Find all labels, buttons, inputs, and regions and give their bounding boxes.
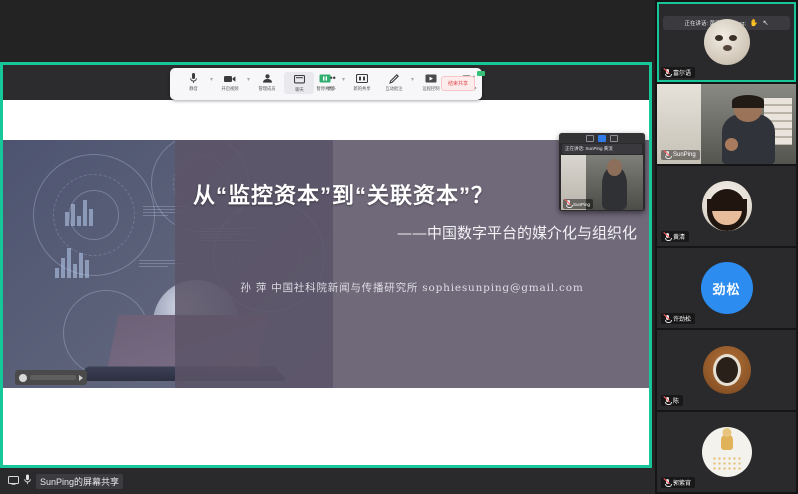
share-status-text: SunPing的屏幕共享 xyxy=(36,474,123,489)
video-button[interactable]: 开启视频 xyxy=(215,72,245,92)
toolbar-timer-group: 05:42 腾讯会议 xyxy=(288,65,408,67)
microphone-muted-icon xyxy=(566,200,571,208)
pause-share-button[interactable]: 暂停共享 xyxy=(310,72,340,92)
floating-camera-name: SunPing xyxy=(573,202,590,207)
chat-icon xyxy=(291,73,307,86)
floating-camera-window[interactable]: 正在讲话: SunPing 黄流 SunPing xyxy=(559,133,645,211)
participants-button[interactable]: 管理成员 xyxy=(252,72,282,92)
annotate-label: 互动批注 xyxy=(385,86,402,92)
active-layout-icon[interactable] xyxy=(598,135,606,142)
participant-name: 郭紫宵 xyxy=(673,478,691,487)
participant-name: SunPing xyxy=(673,152,696,158)
video-button-label: 开启视频 xyxy=(221,86,238,92)
microphone-muted-icon xyxy=(665,151,670,159)
recording-badge xyxy=(477,71,485,76)
participant-name: 黄清 xyxy=(673,232,685,241)
presentation-control-chip[interactable] xyxy=(15,370,87,385)
participants-button-label: 管理成员 xyxy=(258,86,275,92)
participant-tile[interactable]: 正在讲话: 黄流, SunPing; ✋ ↖ 富尔语 xyxy=(657,2,796,82)
new-share-label: 新的共享 xyxy=(353,86,370,92)
new-share-icon xyxy=(354,72,370,85)
shared-screen-region: 05:42 腾讯会议 静音 ▾ xyxy=(0,0,655,494)
layout-icon[interactable] xyxy=(586,135,594,142)
participants-rail: 正在讲话: 黄流, SunPing; ✋ ↖ 富尔语 xyxy=(655,0,798,494)
participant-tile[interactable]: 郭紫宵 xyxy=(657,412,796,492)
annotate-icon xyxy=(386,72,402,85)
floating-camera-name-badge: SunPing xyxy=(563,199,593,209)
participant-name-badge: 郭紫宵 xyxy=(661,477,695,488)
microphone-muted-icon xyxy=(665,397,670,405)
microphone-muted-icon xyxy=(665,69,670,77)
brown-photo-avatar xyxy=(703,346,751,394)
expand-icon[interactable] xyxy=(610,135,618,142)
end-share-button[interactable]: 结束共享 xyxy=(441,76,475,91)
raised-hand-icon: ✋ xyxy=(750,19,759,27)
slide-subtitle: ——中国数字平台的媒介化与组织化 xyxy=(397,222,637,243)
microphone-muted-icon xyxy=(665,315,670,323)
participant-name: 陈 xyxy=(673,396,679,405)
screen-share-icon xyxy=(8,472,19,490)
play-icon[interactable] xyxy=(79,375,83,381)
annotate-button[interactable]: 互动批注 xyxy=(379,72,409,92)
dog-avatar xyxy=(704,19,750,65)
microphone-muted-icon xyxy=(665,233,670,241)
slide-author-line: 孙 萍 中国社科院新闻与传播研究所 sophiesunping@gmail.co… xyxy=(175,280,649,295)
participant-tile[interactable]: 黄清 xyxy=(657,166,796,246)
participant-tile[interactable]: SunPing xyxy=(657,84,796,164)
pause-share-icon xyxy=(317,72,333,85)
remote-control-label: 远程控制 xyxy=(422,86,439,92)
floating-camera-banner: 正在讲话: SunPing 黄流 xyxy=(562,144,642,154)
participant-tile[interactable]: 陈 xyxy=(657,330,796,410)
presentation-slide: 从“监控资本”到“关联资本”？ ——中国数字平台的媒介化与组织化 孙 萍 中国社… xyxy=(3,140,649,388)
participant-name-badge: 黄清 xyxy=(661,231,689,242)
microphone-icon xyxy=(185,72,201,85)
floating-camera-toolbar[interactable] xyxy=(559,133,645,143)
share-status-bar: SunPing的屏幕共享 xyxy=(0,468,655,494)
mute-button[interactable]: 静音 xyxy=(178,72,208,92)
meeting-toolbar: 05:42 腾讯会议 静音 ▾ xyxy=(170,68,482,100)
microphone-muted-icon xyxy=(665,479,670,487)
chevron-down-icon[interactable]: ▾ xyxy=(411,76,414,83)
mute-button-label: 静音 xyxy=(189,86,198,92)
remote-control-icon xyxy=(423,72,439,85)
participant-name-badge: SunPing xyxy=(661,150,700,160)
participant-name-badge: 富尔语 xyxy=(661,67,695,78)
shared-desktop: 05:42 腾讯会议 静音 ▾ xyxy=(3,65,649,465)
floating-camera-video: SunPing xyxy=(561,155,643,210)
chevron-down-icon[interactable]: ▾ xyxy=(247,76,250,83)
camera-icon xyxy=(222,72,238,85)
pointer-icon: ↖ xyxy=(763,19,769,27)
initials-avatar: 劲松 xyxy=(701,262,753,314)
microphone-icon xyxy=(24,472,31,490)
woman-photo-avatar xyxy=(702,181,752,231)
chevron-down-icon[interactable]: ▾ xyxy=(342,76,345,83)
participant-tile[interactable]: 劲松 许劲松 xyxy=(657,248,796,328)
participants-icon xyxy=(259,72,275,85)
participant-name-badge: 许劲松 xyxy=(661,313,695,324)
new-share-button[interactable]: 新的共享 xyxy=(347,72,377,92)
participant-name: 许劲松 xyxy=(673,314,691,323)
participant-name: 富尔语 xyxy=(673,68,691,77)
chat-button-label: 聊天 xyxy=(295,87,304,93)
illustration-avatar xyxy=(702,427,752,477)
meeting-window: 05:42 腾讯会议 静音 ▾ xyxy=(0,0,798,494)
participant-name-badge: 陈 xyxy=(661,395,683,406)
ppt-thumbnail-icon xyxy=(19,374,27,382)
pause-share-label: 暂停共享 xyxy=(316,86,333,92)
ppt-progress-bar xyxy=(30,375,76,380)
chevron-down-icon[interactable]: ▾ xyxy=(210,76,213,83)
